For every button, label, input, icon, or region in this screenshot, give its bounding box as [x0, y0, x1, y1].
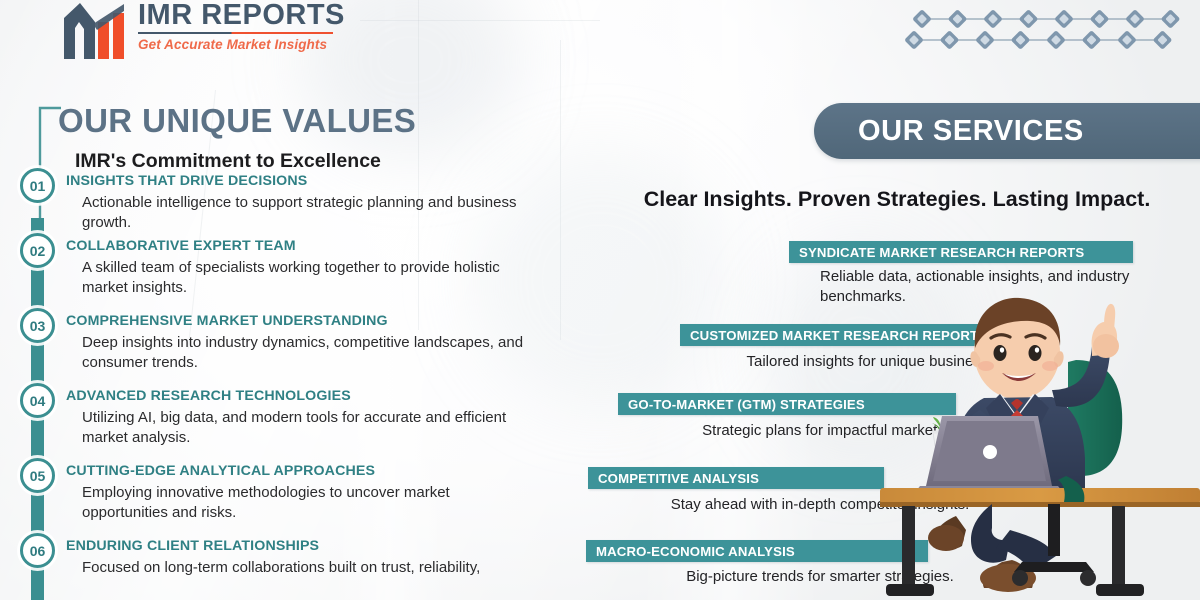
infographic-canvas: IMR REPORTS Get Accurate Market Insights…: [0, 0, 1200, 600]
service-label: GO-TO-MARKET (GTM) STRATEGIES: [628, 397, 865, 412]
service-label-bar[interactable]: CUSTOMIZED MARKET RESEARCH REPORTS: [680, 324, 1031, 346]
value-number-badge: 05: [20, 458, 55, 493]
value-title: CUTTING-EDGE ANALYTICAL APPROACHES: [66, 463, 375, 479]
value-title: ADVANCED RESEARCH TECHNOLOGIES: [66, 388, 351, 404]
value-number-badge: 01: [20, 168, 55, 203]
value-title: INSIGHTS THAT DRIVE DECISIONS: [66, 173, 307, 189]
value-number-badge: 02: [20, 233, 55, 268]
value-number-badge: 04: [20, 383, 55, 418]
value-description: Utilizing AI, big data, and modern tools…: [82, 408, 534, 447]
brand-tagline: Get Accurate Market Insights: [138, 37, 358, 52]
service-label: COMPETITIVE ANALYSIS: [598, 471, 759, 486]
service-description: Tailored insights for unique business ne…: [612, 352, 1172, 372]
service-description: Strategic plans for impactful market ent…: [560, 421, 1120, 441]
brand-logo[interactable]: IMR REPORTS Get Accurate Market Insights: [60, 0, 360, 64]
service-description: Reliable data, actionable insights, and …: [820, 267, 1160, 306]
services-heading-label: OUR SERVICES: [858, 115, 1084, 148]
value-description: Actionable intelligence to support strat…: [82, 193, 534, 232]
value-title: COLLABORATIVE EXPERT TEAM: [66, 238, 296, 254]
value-title: ENDURING CLIENT RELATIONSHIPS: [66, 538, 319, 554]
value-description: A skilled team of specialists working to…: [82, 258, 534, 297]
service-description: Stay ahead with in-depth competitor insi…: [540, 495, 1100, 515]
value-description: Focused on long-term collaborations buil…: [82, 558, 534, 578]
service-label-bar[interactable]: GO-TO-MARKET (GTM) STRATEGIES: [618, 393, 956, 415]
value-description: Deep insights into industry dynamics, co…: [82, 333, 534, 372]
brand-title: IMR REPORTS: [138, 0, 358, 30]
brand-rule: [138, 32, 333, 34]
value-description: Employing innovative methodologies to un…: [82, 483, 534, 522]
service-description: Big-picture trends for smarter strategie…: [540, 567, 1100, 587]
page-title: OUR UNIQUE VALUES: [58, 102, 416, 140]
diamond-chain-motif-icon: [902, 6, 1182, 52]
value-title: COMPREHENSIVE MARKET UNDERSTANDING: [66, 313, 388, 329]
service-label: CUSTOMIZED MARKET RESEARCH REPORTS: [690, 328, 987, 343]
unique-values-panel: OUR UNIQUE VALUES IMR's Commitment to Ex…: [0, 90, 560, 600]
service-label: MACRO-ECONOMIC ANALYSIS: [596, 544, 795, 559]
page-subtitle: IMR's Commitment to Excellence: [75, 150, 381, 173]
services-heading-pill: OUR SERVICES: [814, 103, 1200, 159]
imr-m-logo-icon: [60, 2, 130, 60]
service-label-bar[interactable]: SYNDICATE MARKET RESEARCH REPORTS: [789, 241, 1133, 263]
service-label-bar[interactable]: MACRO-ECONOMIC ANALYSIS: [586, 540, 928, 562]
value-number-badge: 03: [20, 308, 55, 343]
services-tagline: Clear Insights. Proven Strategies. Lasti…: [617, 187, 1177, 212]
value-number-badge: 06: [20, 533, 55, 568]
service-label-bar[interactable]: COMPETITIVE ANALYSIS: [588, 467, 884, 489]
service-label: SYNDICATE MARKET RESEARCH REPORTS: [799, 245, 1084, 260]
